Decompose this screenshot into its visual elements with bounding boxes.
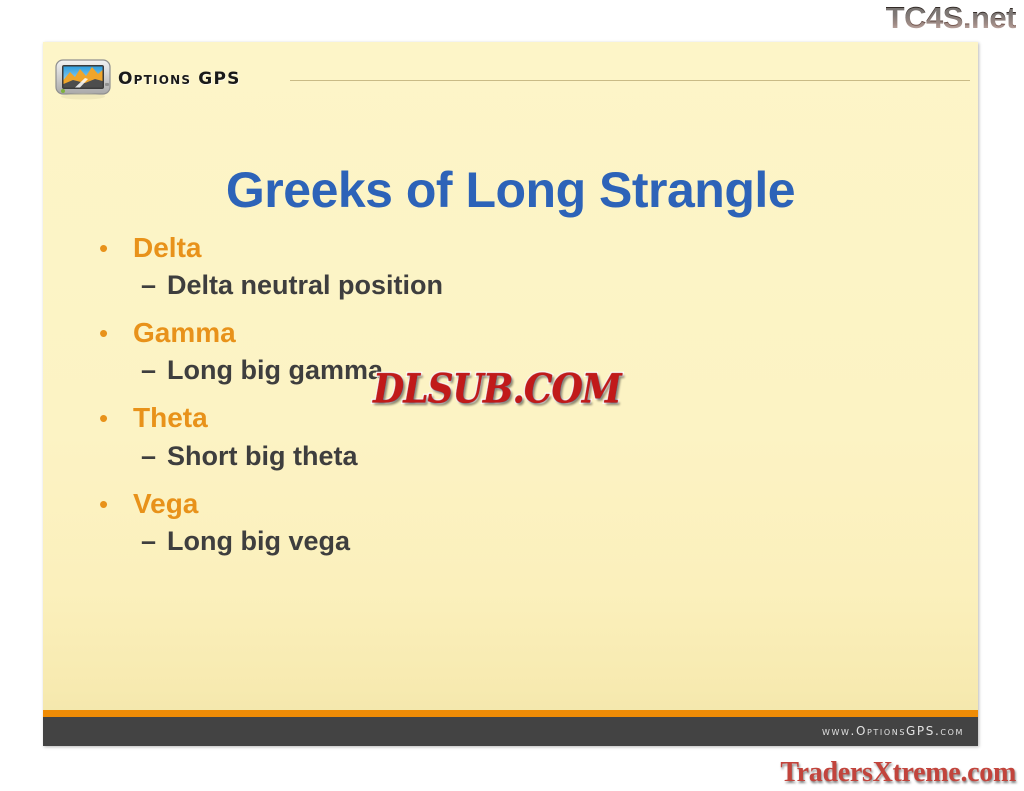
bullet-dot-icon: • (93, 491, 133, 517)
presentation-slide: Options GPS Greeks of Long Strangle • De… (43, 42, 978, 746)
header-divider (290, 80, 970, 81)
list-item: – Delta neutral position (93, 270, 913, 301)
dlsub-overlay-watermark: DLSUB.COM (373, 369, 621, 409)
list-item: – Short big theta (93, 441, 913, 472)
bullet-label-gamma: Gamma (133, 317, 236, 349)
bullet-group-vega: • Vega – Long big vega (93, 488, 913, 557)
slide-header: Options GPS (43, 42, 978, 100)
dash-marker-icon: – (141, 441, 167, 472)
bullet-group-delta: • Delta – Delta neutral position (93, 232, 913, 301)
tradersxtreme-watermark: TradersXtreme.com (780, 759, 1016, 787)
footer-url: www.OptionsGPS.com (822, 724, 964, 738)
brand-title: Options GPS (118, 69, 241, 89)
dash-marker-icon: – (141, 355, 167, 386)
sub-label-gamma: Long big gamma (167, 355, 383, 386)
dash-marker-icon: – (141, 270, 167, 301)
sub-label-vega: Long big vega (167, 526, 350, 557)
tc4s-site-watermark: TC4S.net (886, 2, 1016, 33)
slide-footer: www.OptionsGPS.com (43, 717, 978, 746)
bullet-dot-icon: • (93, 320, 133, 346)
list-item: • Gamma (93, 317, 913, 349)
list-item: • Delta (93, 232, 913, 264)
bullet-label-theta: Theta (133, 402, 208, 434)
sub-label-delta: Delta neutral position (167, 270, 443, 301)
sub-label-theta: Short big theta (167, 441, 358, 472)
bullet-dot-icon: • (93, 235, 133, 261)
bullet-label-vega: Vega (133, 488, 198, 520)
footer-accent-bar (43, 710, 978, 717)
bullet-dot-icon: • (93, 405, 133, 431)
gps-device-chart-icon (55, 58, 113, 100)
bullet-group-theta: • Theta – Short big theta (93, 402, 913, 471)
bullet-label-delta: Delta (133, 232, 201, 264)
list-item: • Vega (93, 488, 913, 520)
dash-marker-icon: – (141, 526, 167, 557)
page-title: Greeks of Long Strangle (43, 164, 978, 217)
list-item: – Long big vega (93, 526, 913, 557)
